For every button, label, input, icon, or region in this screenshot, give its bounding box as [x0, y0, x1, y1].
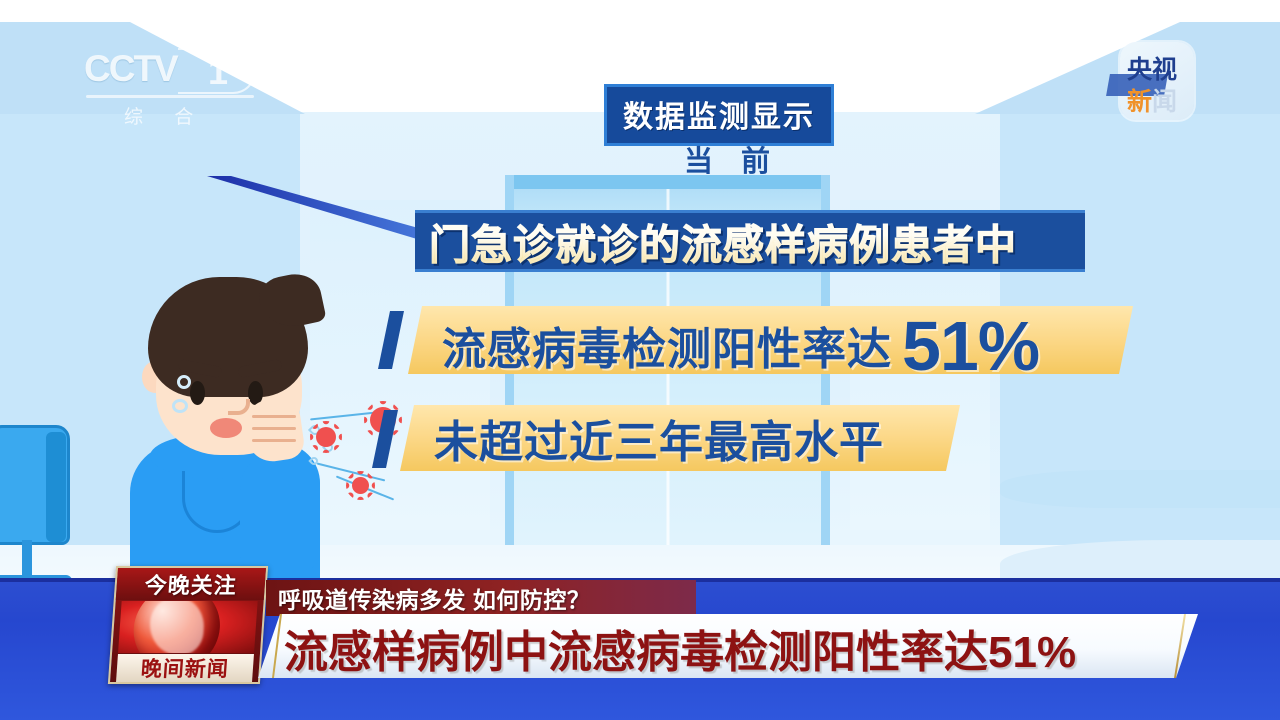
cctv-wordmark: CCTV	[84, 48, 177, 90]
sweat-drop-icon	[177, 375, 191, 389]
data-monitoring-tag-label: 数据监测显示	[623, 101, 815, 134]
boy-finger	[252, 427, 296, 430]
program-badge-top: 今晚关注	[116, 568, 266, 600]
cctv1-channel-logo: CCTV 1 综 合	[84, 48, 256, 130]
cctv-underline	[86, 95, 254, 98]
headline-1-text: 门急诊就诊的流感样病例患者中	[415, 211, 1017, 271]
wall-stripe	[1000, 470, 1280, 508]
cctv-news-logo: 央视 新闻	[1120, 42, 1194, 120]
sweat-drop-icon	[172, 399, 188, 413]
data-monitoring-tag: 数据监测显示	[604, 84, 834, 146]
headline-band-2: 流感病毒检测阳性率达 51%	[408, 306, 1133, 374]
lower-third-headline-text: 流感样病例中流感病毒检测阳性率达51%	[284, 616, 1076, 680]
boy-finger	[252, 439, 296, 442]
news-logo-line1: 央视	[1127, 50, 1177, 86]
boy-arm	[240, 450, 320, 570]
program-badge-top-label: 今晚关注	[144, 568, 238, 600]
boy-finger	[252, 415, 296, 418]
topic-bar: 呼吸道传染病多发 如何防控？	[266, 580, 696, 616]
cctv-channel-number: 1	[208, 51, 228, 93]
headline-2-text: 流感病毒检测阳性率达	[442, 313, 892, 377]
news-logo-line2-dim: 闻	[1152, 88, 1177, 116]
cctv-logo-row: CCTV 1	[84, 48, 256, 96]
office-chair-side	[46, 432, 66, 542]
headline-2-content: 流感病毒检测阳性率达 51%	[408, 300, 1039, 380]
boy-mouth	[210, 418, 242, 438]
news-logo-line2: 新闻	[1127, 82, 1177, 118]
boy-eye-left	[190, 381, 205, 405]
lower-third-headline: 流感样病例中流感病毒检测阳性率达51%	[258, 614, 1198, 678]
headline-3-text: 未超过近三年最高水平	[400, 406, 884, 470]
program-badge-bottom-label: 晚间新闻	[140, 653, 230, 683]
lead-in-text: 当 前	[684, 138, 780, 180]
headline-band-3: 未超过近三年最高水平	[400, 405, 960, 471]
program-badge: 今晚关注 晚间新闻	[108, 566, 268, 684]
program-badge-bottom: 晚间新闻	[116, 654, 254, 682]
topic-bar-label: 呼吸道传染病多发 如何防控？	[266, 581, 590, 615]
virus-icon	[316, 427, 336, 447]
news-logo-line2-bright: 新	[1127, 88, 1152, 116]
headline-band-1: 门急诊就诊的流感样病例患者中	[415, 210, 1085, 272]
cctv-channel-subtitle: 综 合	[124, 102, 206, 129]
globe-icon	[118, 601, 258, 653]
virus-icon	[352, 477, 369, 494]
broadcast-screen: CCTV 1 综 合 央视 新闻 数据监测显示 当 前 门急诊就诊的流感样病例患…	[0, 0, 1280, 720]
coughing-boy-illustration	[120, 275, 420, 585]
